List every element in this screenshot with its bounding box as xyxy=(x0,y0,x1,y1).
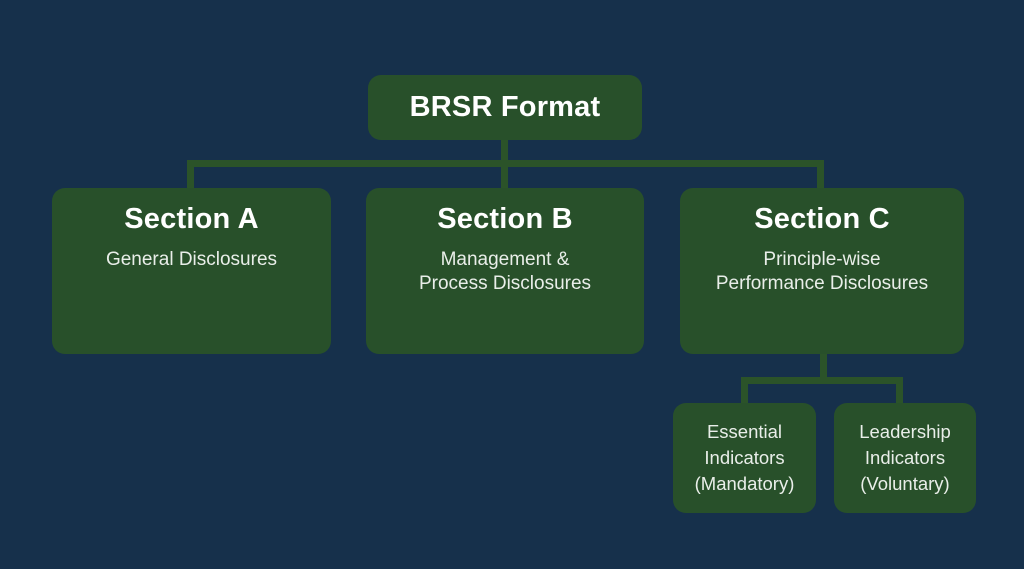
connector-drop-essential xyxy=(741,377,748,405)
diagram-canvas: BRSR Format Section A General Disclosure… xyxy=(0,0,1024,569)
node-section-c-subtitle-line-2: Performance Disclosures xyxy=(716,272,928,296)
node-leadership-indicators-line-2: Indicators xyxy=(865,445,945,471)
node-section-b-subtitle-line-1: Management & xyxy=(441,248,570,272)
node-section-a-subtitle-line-1: General Disclosures xyxy=(106,248,277,272)
node-section-a-title: Section A xyxy=(124,204,258,236)
connector-leaves-bus xyxy=(741,377,903,384)
node-section-a[interactable]: Section A General Disclosures xyxy=(52,188,331,354)
connector-drop-section-c xyxy=(817,160,824,190)
node-section-c-title: Section C xyxy=(754,204,890,236)
node-essential-indicators-line-2: Indicators xyxy=(704,445,784,471)
node-brsr-format[interactable]: BRSR Format xyxy=(368,75,642,140)
connector-drop-leadership xyxy=(896,377,903,405)
node-section-b-subtitle-line-2: Process Disclosures xyxy=(419,272,591,296)
node-essential-indicators-line-1: Essential xyxy=(707,419,782,445)
connector-drop-section-b xyxy=(501,160,508,190)
node-section-b-title: Section B xyxy=(437,204,573,236)
node-essential-indicators[interactable]: Essential Indicators (Mandatory) xyxy=(673,403,816,513)
node-leadership-indicators-line-3: (Voluntary) xyxy=(860,471,949,497)
connector-drop-section-a xyxy=(187,160,194,190)
node-section-c-subtitle-line-1: Principle-wise xyxy=(763,248,880,272)
node-leadership-indicators-line-1: Leadership xyxy=(859,419,951,445)
node-section-b[interactable]: Section B Management & Process Disclosur… xyxy=(366,188,644,354)
node-essential-indicators-line-3: (Mandatory) xyxy=(695,471,795,497)
node-section-c[interactable]: Section C Principle-wise Performance Dis… xyxy=(680,188,964,354)
node-leadership-indicators[interactable]: Leadership Indicators (Voluntary) xyxy=(834,403,976,513)
node-brsr-format-title: BRSR Format xyxy=(410,92,601,124)
